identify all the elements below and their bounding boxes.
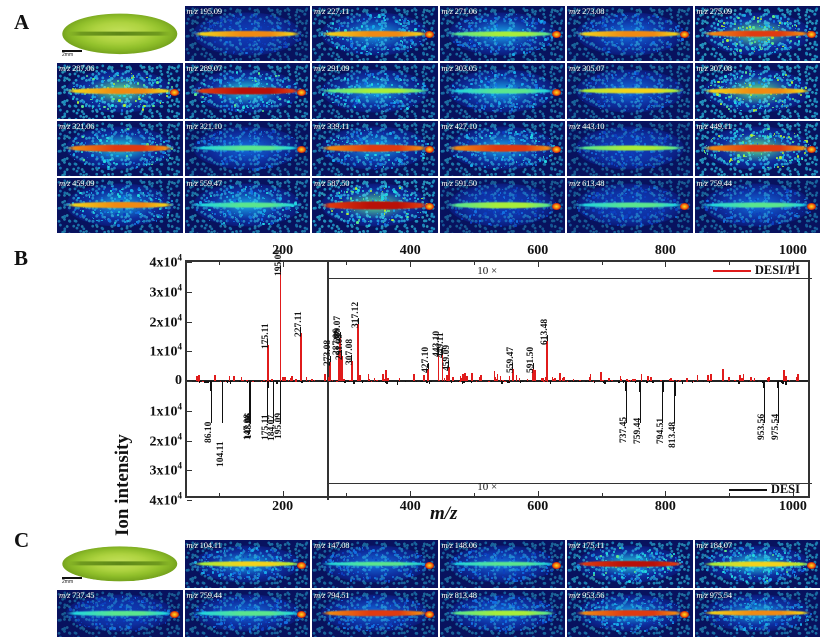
spectrum-peak [349,381,351,382]
y-tick-mark [187,381,192,382]
spectrum-peak [575,381,577,382]
ion-image-cell[interactable]: m/z 459.09 [57,178,183,233]
x-tick-mark [538,262,539,267]
spectrum-peak [413,374,415,381]
ion-image-cell[interactable]: m/z 273.08 [567,6,693,61]
ion-image-cell[interactable]: m/z 759.44 [695,178,821,233]
x-tick-mark-minor [474,493,475,496]
x-tick-label: 1000 [779,499,807,515]
spectrum-peak [678,381,680,382]
mz-label: m/z 227.11 [314,6,349,16]
y-axis-label: Ion intensity [112,434,134,536]
spectrum-peak [526,381,528,382]
x-tick-mark-minor [219,262,220,265]
peak-leader-line [211,391,212,423]
ion-image-cell[interactable]: m/z 794.51 [312,590,438,638]
mz-label: m/z 587.50 [314,178,349,188]
peak-leader-line [448,361,449,367]
spectrum-peak [533,381,535,382]
mz-label: m/z 303.05 [442,63,477,73]
y-tick-mark [187,262,192,263]
mz-label: m/z 287.06 [59,63,94,73]
spectrum-peak [491,381,493,382]
ion-image-cell[interactable]: m/z 559.47 [185,178,311,233]
spectrum-peak-labeled [674,381,676,396]
spectrum-peak [501,381,503,384]
peak-label: 307.08 [345,339,355,365]
ion-image-cell[interactable]: m/z 321.10 [185,121,311,176]
x-tick-mark-minor [346,493,347,496]
spectrum-peak [199,381,201,383]
ion-image-cell[interactable]: m/z 291.09 [312,63,438,118]
spectrum-peak [264,381,266,382]
spectrum-peak [233,376,235,381]
leaf-blade [62,13,177,54]
spectrum-peak [442,381,444,382]
ion-image-cell[interactable]: m/z 587.50 [312,178,438,233]
peak-label: 591.50 [526,347,536,373]
mz-label: m/z 305.07 [569,63,604,73]
mz-label: m/z 289.07 [187,63,222,73]
spectrum-peak [796,377,798,381]
mz-label: m/z 737.45 [59,590,94,600]
spectrum-peak [322,381,324,382]
mz-label: m/z 175.11 [569,540,604,550]
peak-label: 759.44 [633,418,643,444]
y-tick-label: 0 [175,373,182,389]
spectrum-peak [494,371,496,381]
peak-label: 291.09 [335,334,345,360]
ion-image-cell[interactable]: m/z 321.06 [57,121,183,176]
peak-label: 195.09 [274,413,284,439]
peak-leader-line [547,335,548,341]
mz-label: m/z 459.09 [59,178,94,188]
spectrum-peak [568,381,570,382]
spectrum-peak [547,381,549,382]
spectrum-peak [562,378,564,381]
y-tick-label: 2x104 [150,312,183,331]
spectrum-peak [467,381,469,382]
spectrum-peak-labeled [300,333,302,381]
spectrum-peak [368,374,370,381]
ion-image-cell[interactable]: m/z 289.07 [185,63,311,118]
spectrum-peak-labeled [777,381,779,388]
panel-a-image-grid: 2mmm/z 195.09m/z 227.11m/z 271.06m/z 273… [57,6,820,233]
x-tick-mark [283,491,284,496]
legend-label-desi-pi: DESI/PI [755,263,800,278]
peak-leader-line [428,363,429,369]
spectrum-peak [646,381,648,383]
spectrum-peak [742,380,744,381]
spectrum-peak [757,381,759,382]
ion-image-cell[interactable]: m/z 613.48 [567,178,693,233]
y-tick-mark [187,411,192,412]
spectrum-peak [462,381,464,384]
spectrum-peak [324,374,326,381]
peak-leader-line [351,355,352,361]
leaf-photo-cell[interactable]: 2mm [57,540,183,588]
spectrum-peak [641,374,643,381]
ion-image-cell[interactable]: m/z 275.09 [695,6,821,61]
spectrum-peak [783,370,785,381]
spectrum-peak [444,378,446,381]
scale-bar: 2mm [62,577,82,585]
ion-image-cell[interactable]: m/z 104.11 [185,540,311,588]
spectrum-peak [785,381,787,385]
spectrum-peak [205,381,207,383]
spectrum-peak-labeled [662,381,664,392]
mz-label: m/z 273.08 [569,6,604,16]
spectrum-peak [343,381,345,382]
spectrum-peak-labeled [763,381,765,388]
spectrum-peak [697,375,699,381]
peak-leader-line [341,350,342,356]
spectrum-peak [292,381,294,382]
spectrum-peak [686,381,688,382]
y-tick-mark [187,351,192,352]
y-tick-label: 3x104 [150,282,183,301]
ion-image-cell[interactable]: m/z 737.45 [57,590,183,638]
spectrum-peak [370,381,372,382]
spectrum-peak [399,378,401,381]
spectrum-peak [710,374,712,381]
peak-leader-line [280,387,281,423]
leaf-midrib [68,32,172,36]
mz-label: m/z 443.10 [569,121,604,131]
spectrum-peak [497,374,499,381]
spectrum-peak-labeled [267,381,269,388]
spectrum-peak [275,381,277,382]
spectrum-peak-labeled [357,324,359,381]
panel-c-image-grid: 2mmm/z 104.11m/z 147.08m/z 148.06m/z 175… [57,540,820,637]
lower-magnification-label: 10 × [477,481,497,493]
spectrum-peak-labeled [267,345,269,381]
ion-image-cell[interactable]: m/z 443.10 [567,121,693,176]
peak-leader-line [674,396,675,423]
spectrum-peak [430,381,432,382]
spectrum-peak-labeled [546,341,548,381]
peak-leader-line [250,387,251,423]
spectrum-peak [325,381,327,382]
ion-image-cell[interactable]: m/z 184.07 [695,540,821,588]
ion-image-cell[interactable]: m/z 287.06 [57,63,183,118]
spectrum-peak [453,381,455,382]
x-tick-label: 400 [400,243,421,259]
spectrum-peak [365,381,367,382]
spectrum-peak [632,379,634,381]
spectrum-peak [254,381,256,382]
peak-label: 104.11 [216,442,226,468]
mz-label: m/z 759.44 [187,590,222,600]
spectrum-peak [729,381,731,382]
spectrum-peak [416,381,418,382]
panel-b-spectrum: B Ion intensity m/z 4x1043x1042x1041x104… [0,236,822,526]
spectrum-peak [239,381,241,382]
x-tick-label: 1000 [779,243,807,259]
ion-image-cell[interactable]: m/z 813.48 [440,590,566,638]
peak-leader-line [662,392,663,423]
spectrum-peak-labeled [273,381,275,389]
spectrum-peak [247,381,249,383]
spectrum-peak [550,381,552,384]
x-tick-label: 200 [272,499,293,515]
peak-label: 317.12 [351,302,361,328]
ion-image-cell[interactable]: m/z 305.07 [567,63,693,118]
spectrum-peak [301,381,303,383]
spectrum-peak [604,381,606,384]
spectrum-peak [397,381,399,385]
peak-leader-line [358,318,359,324]
spectrum-peak [594,381,596,383]
spectrum-peak [554,378,556,381]
spectrum-peak [226,381,228,382]
spectrum-peak [748,381,750,382]
lower-magnification-box [327,381,812,484]
x-tick-mark-minor [474,262,475,265]
spectrum-peak [789,380,791,381]
mz-label: m/z 104.11 [187,540,222,550]
peak-label: 459.09 [442,345,452,371]
peak-leader-line [330,356,331,362]
mz-label: m/z 813.48 [442,590,477,600]
spectrum-peak [508,381,510,383]
panel-a-letter: A [14,10,29,35]
panel-c-letter: C [14,528,29,553]
upper-magnification-label: 10 × [477,265,497,277]
spectrum-peak [636,381,638,382]
peak-label: 559.47 [506,346,516,372]
spectrum-peak [207,381,209,383]
upper-magnification-box [327,278,812,381]
y-tick-mark [187,292,192,293]
x-tick-mark-minor [346,262,347,265]
legend-line-desi [729,489,767,491]
y-tick-label: 3x104 [150,461,183,480]
spectrum-peak [521,381,523,382]
scale-bar-label: 2mm [62,579,82,585]
spectrum-peak [405,381,407,382]
peak-leader-line [512,363,513,369]
leaf-midrib [68,562,172,566]
peak-label: 195.09 [274,250,284,276]
spectrum-peak [507,381,509,383]
y-tick-label: 1x104 [150,401,183,420]
mz-label: m/z 321.06 [59,121,94,131]
spectrum-peak [572,381,574,382]
peak-leader-line [222,415,223,423]
y-tick-mark [187,322,192,323]
spectrum-peak [242,380,244,381]
spectrum-peak [458,381,460,382]
hotspot [425,146,434,153]
spectrum-peak [600,372,602,381]
ion-image-cell[interactable]: m/z 759.44 [185,590,311,638]
spectrum-peak-labeled [639,381,641,392]
peak-label: 737.45 [619,416,629,442]
spectrum-peak [353,381,355,384]
peak-leader-line [764,388,765,423]
mz-label: m/z 271.06 [442,6,477,16]
spectrum-peak [738,381,740,384]
spectrum-peak [516,375,518,381]
spectrum-peak [559,373,561,381]
spectrum-peak [214,375,216,381]
x-tick-label: 400 [400,499,421,515]
mz-label: m/z 613.48 [569,178,604,188]
spectrum-peak [734,381,736,382]
spectrum-peak [610,381,612,382]
spectrum-peak [722,369,724,381]
y-tick-label: 4x104 [150,491,183,510]
spectrum-peak [750,377,752,381]
spectrum-peak [542,378,544,381]
hotspot [297,562,306,569]
spectrum-peak [196,376,198,381]
hotspot [297,89,306,96]
ion-image-cell[interactable]: m/z 148.06 [440,540,566,588]
x-tick-mark [538,491,539,496]
spectrum-peak [288,380,290,381]
spectrum-peak [471,373,473,381]
x-tick-mark-minor [602,493,603,496]
ion-image-cell[interactable]: m/z 339.11 [312,121,438,176]
spectrum-peak [630,380,632,381]
peak-label: 227.11 [294,312,304,338]
spectrum-peak [703,381,705,382]
x-axis-label: m/z [430,503,457,525]
spectrum-peak [780,381,782,382]
legend-desi: DESI [729,482,800,497]
spectrum-peak [540,381,542,382]
hotspot [425,562,434,569]
mz-label: m/z 184.07 [697,540,732,550]
mz-label: m/z 591.50 [442,178,477,188]
mz-label: m/z 559.47 [187,178,222,188]
spectrum-peak [476,381,478,382]
legend-desi-pi: DESI/PI [713,263,800,278]
legend-line-desi-pi [713,270,751,272]
x-tick-mark-minor [602,262,603,265]
ion-image-cell[interactable]: m/z 303.05 [440,63,566,118]
y-tick-mark [187,470,192,471]
peak-label: 975.54 [771,414,781,440]
spectrum-peak [470,381,472,382]
spectrum-peak [284,381,286,382]
spectrum-peak [504,381,506,382]
ion-image-cell[interactable]: m/z 271.06 [440,6,566,61]
ion-image-cell[interactable]: m/z 195.09 [185,6,311,61]
x-tick-label: 600 [527,499,548,515]
spectrum-peak [295,381,297,382]
spectrum-peak [682,381,684,384]
x-tick-mark [410,262,411,267]
spectrum-peak [261,381,263,382]
mz-label: m/z 321.10 [187,121,222,131]
ion-image-cell[interactable]: m/z 953.56 [567,590,693,638]
peak-label: 86.10 [204,422,214,443]
peak-label: 148.06 [244,413,254,439]
spectrum-peak [382,381,384,382]
spectrum-peak [386,381,388,384]
ion-image-cell[interactable]: m/z 175.11 [567,540,693,588]
ion-image-cell[interactable]: m/z 307.08 [695,63,821,118]
x-tick-label: 800 [655,499,676,515]
mz-label: m/z 339.11 [314,121,349,131]
ion-image-cell[interactable]: m/z 591.50 [440,178,566,233]
spectrum-peak [643,381,645,382]
spectrum-peak [480,375,482,381]
mz-label: m/z 148.06 [442,540,477,550]
scale-bar-label: 2mm [62,52,82,58]
mz-label: m/z 759.44 [697,178,732,188]
peak-leader-line [280,266,281,272]
peak-label: 953.56 [757,414,767,440]
x-tick-mark [410,491,411,496]
mz-label: m/z 307.08 [697,63,732,73]
y-tick-mark [187,441,192,442]
spectrum-peak [426,381,428,383]
ion-image-cell[interactable]: m/z 427.10 [440,121,566,176]
leaf-photo-cell[interactable]: 2mm [57,6,183,61]
peak-label: 427.10 [421,346,431,372]
mz-label: m/z 147.08 [314,540,349,550]
spectrum-peak [333,381,335,382]
spectrum-peak [447,381,449,382]
ion-image-cell[interactable]: m/z 227.11 [312,6,438,61]
spectrum-peak [585,381,587,382]
spectrum-peak [711,381,713,382]
spectrum-peak [552,377,554,381]
spectrum-peak [694,381,696,382]
spectrum-peak [782,381,784,384]
x-tick-mark-minor [219,493,220,496]
spectrum-peak [376,381,378,382]
legend-label-desi: DESI [771,482,800,497]
mz-label: m/z 794.51 [314,590,349,600]
peak-leader-line [626,391,627,423]
spectrum-peak-labeled [210,381,212,391]
spectrum-peak [378,381,380,382]
x-tick-mark [665,491,666,496]
ion-image-cell[interactable]: m/z 449.11 [695,121,821,176]
mz-label: m/z 195.09 [187,6,222,16]
hotspot [552,89,561,96]
peak-label: 175.11 [261,323,271,349]
spectrum-peak [277,381,279,383]
spectrum-peak [420,381,422,382]
spectrum-peak [618,381,620,383]
peak-leader-line [300,327,301,333]
ion-image-cell[interactable]: m/z 147.08 [312,540,438,588]
peak-label: 813.48 [668,422,678,448]
hotspot [680,203,689,210]
hotspot [170,89,179,96]
ion-image-cell[interactable]: m/z 975.54 [695,590,821,638]
mz-label: m/z 275.09 [697,6,732,16]
spectrum-peak [423,375,425,381]
hotspot [552,562,561,569]
y-tick-mark [187,500,192,501]
mz-label: m/z 975.54 [697,590,732,600]
x-tick-label: 800 [655,243,676,259]
spectrum-peak [664,381,666,382]
spectrum-peak-labeled [625,381,627,391]
mz-label: m/z 427.10 [442,121,477,131]
mz-label: m/z 953.56 [569,590,604,600]
panel-b-letter: B [14,246,28,271]
spectrum-peak-labeled [280,272,282,381]
peak-label: 794.51 [656,418,666,444]
